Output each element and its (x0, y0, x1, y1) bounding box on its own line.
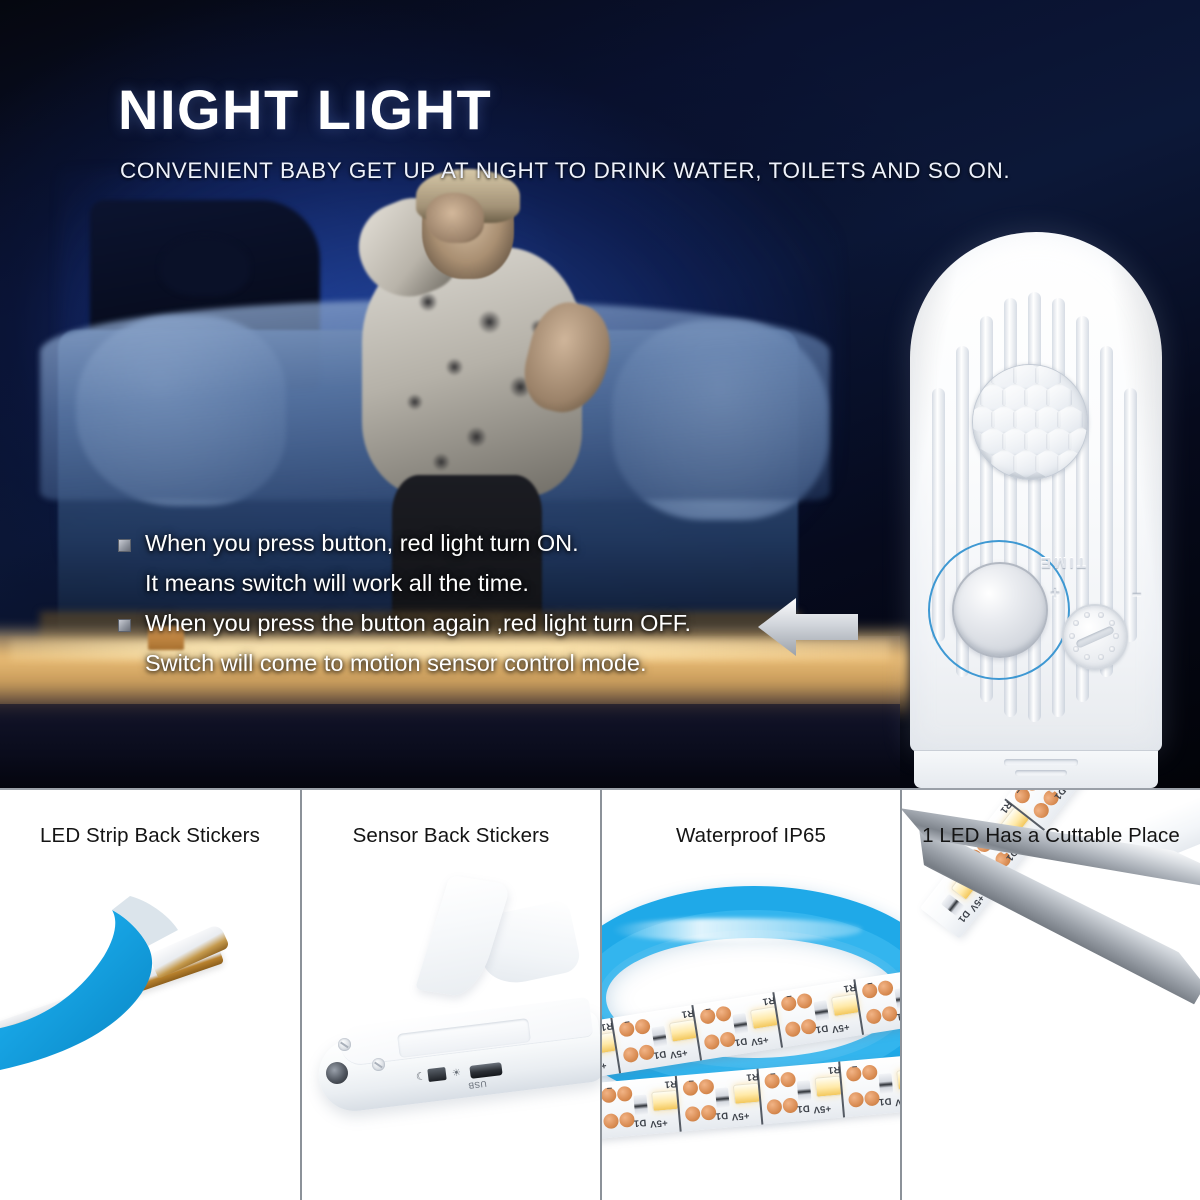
page-title: NIGHT LIGHT (118, 82, 738, 138)
pcb-silkscreen-label: D1 (797, 1102, 810, 1114)
solder-pad (703, 1033, 720, 1050)
pcb-silkscreen-label: +5V (831, 1021, 850, 1035)
screw-icon (338, 1038, 351, 1051)
bullet-row: Switch will come to motion sensor contro… (118, 648, 798, 679)
pcb-silkscreen-label: +5V (731, 1110, 750, 1123)
pcb-silkscreen-label: – (785, 991, 792, 1003)
solder-pad (698, 1079, 714, 1095)
pcb-silkscreen-label: +5V (750, 1034, 769, 1048)
dial-slot (1075, 625, 1115, 649)
pcb-silkscreen-label: – (866, 978, 873, 990)
panel-caption: Waterproof IP65 (602, 824, 900, 848)
pcb-silkscreen-label: +5V (649, 1117, 668, 1130)
time-plus-sign: + (1050, 584, 1060, 604)
panel-caption: 1 LED Has a Cuttable Place (902, 824, 1200, 848)
smd-resistor (633, 1094, 648, 1115)
pcb-silkscreen-label: R1 (746, 1071, 759, 1083)
sun-icon: ☀ (451, 1067, 461, 1079)
dial-grip-dot (1069, 633, 1075, 639)
pcb-silkscreen-label: D1 (715, 1109, 728, 1121)
product-infographic: NIGHT LIGHT CONVENIENT BABY GET UP AT NI… (0, 0, 1200, 1200)
pcb-silkscreen-label: D1 (653, 1048, 667, 1061)
moon-icon: ☾ (415, 1069, 426, 1083)
dial-grip-dot (1098, 612, 1104, 618)
time-dial-label: TIME (1038, 554, 1086, 571)
blue-adhesive-peel-art (0, 790, 300, 1200)
pcb-silkscreen-label: R1 (843, 981, 857, 994)
floor-shadow (0, 704, 900, 788)
base-vent-slot (1004, 759, 1078, 766)
bullet-text: It means switch will work all the time. (145, 568, 529, 599)
mode-slide-switch[interactable] (427, 1067, 446, 1082)
child-hand-rubbing-eye (426, 193, 484, 243)
page-subtitle: CONVENIENT BABY GET UP AT NIGHT TO DRINK… (120, 158, 1140, 184)
pcb-silkscreen-label: +5V (813, 1102, 832, 1115)
square-bullet-icon (118, 539, 131, 552)
dial-grip-dot (1113, 633, 1119, 639)
bullet-row: It means switch will work all the time. (118, 568, 798, 599)
screw-icon (372, 1058, 385, 1071)
pcb-silkscreen-label: – (770, 1068, 776, 1079)
bullet-text: Switch will come to motion sensor contro… (145, 648, 647, 679)
solder-pad (780, 1071, 796, 1087)
pcb-silkscreen-label: D1 (878, 1095, 891, 1107)
pcb-silkscreen-label: R1 (681, 1007, 695, 1020)
bullet-row: When you press the button again ,red lig… (118, 608, 798, 639)
pcb-silkscreen-label: – (704, 1003, 711, 1015)
base-vent-slot (1015, 770, 1067, 776)
solder-pad (862, 1064, 878, 1080)
dial-grip-dot (1073, 620, 1079, 626)
coil-highlight (612, 918, 862, 942)
smd-resistor (715, 1087, 730, 1108)
square-bullet-icon (118, 619, 131, 632)
blue-tape-shape (0, 790, 300, 1200)
smd-resistor (878, 1073, 893, 1094)
solder-pad (715, 1005, 732, 1022)
pcb-silkscreen-label: – (688, 1075, 694, 1086)
solder-pad (784, 1021, 801, 1038)
dial-grip-dot (1084, 654, 1090, 660)
solder-pad (865, 1008, 882, 1025)
pcb-silkscreen-label: +5V (600, 1059, 607, 1073)
smd-led (815, 1076, 843, 1098)
solder-pad (766, 1099, 782, 1115)
smd-resistor (797, 1080, 812, 1101)
pcb-silkscreen-label: R1 (600, 1020, 614, 1033)
pcb-silkscreen-label: D1 (815, 1022, 829, 1035)
scissors-cut-art: D1R1+5V–D1R1+5V–D1R1+5V–D1R1+5V– (902, 790, 1200, 1200)
panel-caption: LED Strip Back Stickers (0, 824, 300, 848)
solder-pad (685, 1106, 701, 1122)
pcb-silkscreen-label: +5V (669, 1047, 688, 1061)
panel-caption: Sensor Back Stickers (302, 824, 600, 848)
device-base (914, 750, 1158, 788)
motion-sensor-device: TIME + – (910, 232, 1162, 788)
solder-pad (796, 992, 813, 1009)
pcb-silkscreen-label: R1 (827, 1064, 840, 1076)
pcb-silkscreen-label: – (851, 1061, 857, 1072)
dial-grip-dot (1073, 646, 1079, 652)
pcb-silkscreen-label: D1 (633, 1117, 646, 1129)
panel-cuttable[interactable]: D1R1+5V–D1R1+5V–D1R1+5V–D1R1+5V– 1 LED H… (900, 790, 1200, 1200)
smd-resistor (732, 1013, 748, 1035)
smd-resistor (651, 1026, 667, 1048)
dial-grip-dot (1109, 620, 1115, 626)
coiled-strip-art: D1R1+5V–D1R1+5V–D1R1+5V–D1R1+5V–D1R1+5V–… (602, 790, 900, 1200)
pcb-silkscreen-label: – (606, 1082, 612, 1093)
solder-pad (603, 1113, 619, 1129)
pcb-silkscreen-label: – (623, 1016, 630, 1028)
pcb-silkscreen-label: R1 (762, 994, 776, 1007)
left-arrow-icon (758, 596, 858, 658)
panel-waterproof[interactable]: D1R1+5V–D1R1+5V–D1R1+5V–D1R1+5V–D1R1+5V–… (600, 790, 900, 1200)
pcb-silkscreen-label: D1 (734, 1035, 748, 1048)
solder-pad (622, 1046, 639, 1063)
solder-pad (634, 1018, 651, 1035)
solder-pad (617, 1086, 633, 1102)
dial-grip-dot (1109, 646, 1115, 652)
device-rib-texture (910, 232, 1162, 752)
feature-panel-strip: LED Strip Back Stickers ☾ ☀ USB Sensor B… (0, 788, 1200, 1200)
headboard-cutout (160, 236, 250, 296)
solder-pad (877, 980, 894, 997)
dial-grip-dot (1084, 612, 1090, 618)
panel-sensor-stickers[interactable]: ☾ ☀ USB Sensor Back Stickers (300, 790, 600, 1200)
pir-dome-icon (972, 364, 1088, 480)
solder-pad (848, 1092, 864, 1108)
feature-bullet-list: When you press button, red light turn ON… (118, 528, 798, 688)
dial-grip-dot (1098, 654, 1104, 660)
smd-led (651, 1090, 679, 1112)
bullet-row: When you press button, red light turn ON… (118, 528, 798, 559)
time-minus-sign: – (1132, 584, 1141, 604)
bullet-text: When you press the button again ,red lig… (145, 608, 691, 639)
sensor-sticker-peel-art: ☾ ☀ USB (302, 790, 600, 1200)
panel-led-strip-stickers[interactable]: LED Strip Back Stickers (0, 790, 300, 1200)
pcb-silkscreen-label: R1 (664, 1078, 677, 1090)
time-dial[interactable] (1062, 604, 1128, 670)
bullet-text: When you press button, red light turn ON… (145, 528, 579, 559)
smd-resistor (813, 1000, 829, 1022)
smd-led (733, 1083, 761, 1105)
